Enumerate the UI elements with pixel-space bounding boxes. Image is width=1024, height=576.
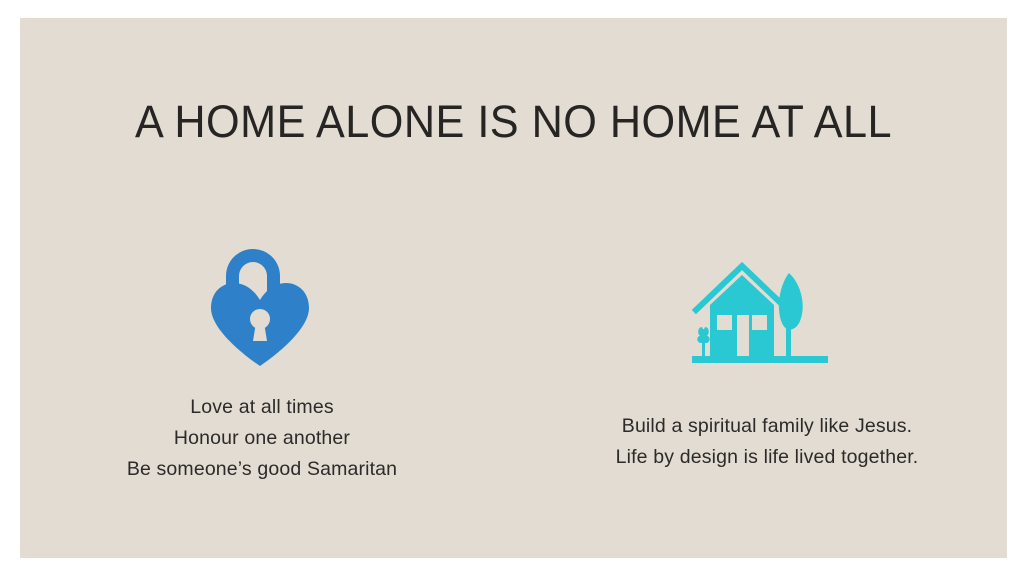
left-text-line-2: Honour one another bbox=[64, 423, 460, 454]
right-text-line-1: Build a spiritual family like Jesus. bbox=[554, 411, 980, 442]
left-text-line-3: Be someone’s good Samaritan bbox=[64, 454, 460, 485]
content-column-right: Build a spiritual family like Jesus. Lif… bbox=[540, 208, 980, 473]
house-with-tree-icon bbox=[540, 208, 980, 363]
heart-padlock-unlocked-glyph bbox=[207, 242, 313, 368]
left-text-block: Love at all times Honour one another Be … bbox=[64, 392, 460, 485]
presentation-slide: A HOME ALONE IS NO HOME AT ALL Love at a… bbox=[20, 18, 1007, 558]
page-title: A HOME ALONE IS NO HOME AT ALL bbox=[40, 96, 988, 148]
heart-padlock-unlocked-icon bbox=[60, 208, 460, 368]
house-with-tree-glyph bbox=[690, 261, 830, 363]
left-text-line-1: Love at all times bbox=[64, 392, 460, 423]
right-text-block: Build a spiritual family like Jesus. Lif… bbox=[554, 411, 980, 473]
right-text-line-2: Life by design is life lived together. bbox=[554, 442, 980, 473]
content-column-left: Love at all times Honour one another Be … bbox=[60, 208, 460, 485]
